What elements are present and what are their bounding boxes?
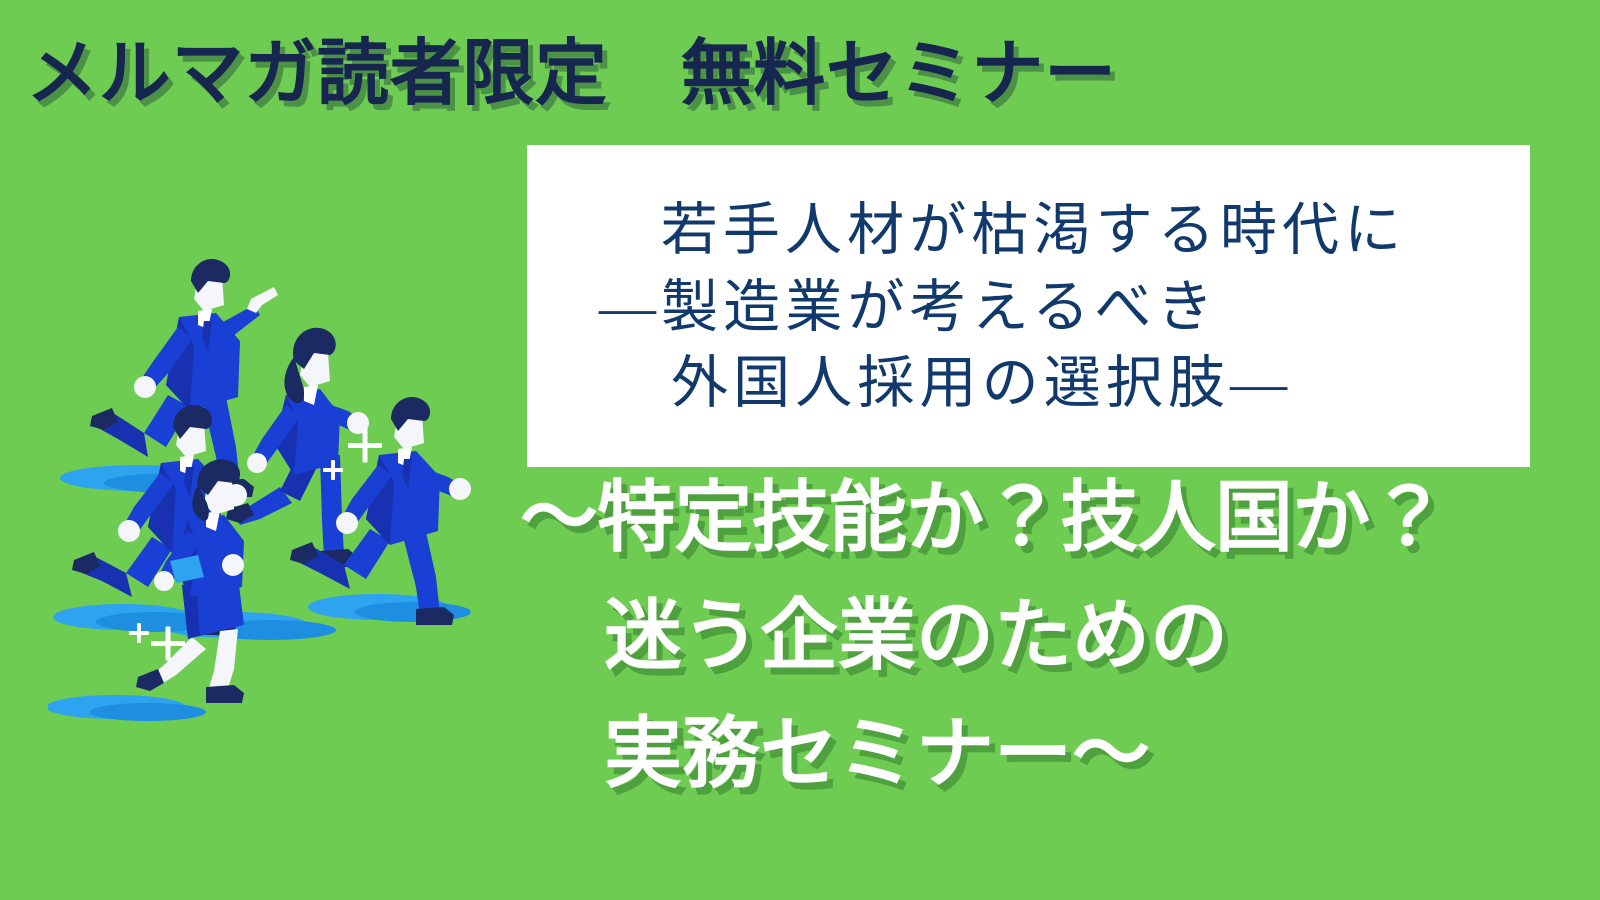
lead-copy: ～特定技能か？技人国か？ 迷う企業のための 実務セミナー～ bbox=[520, 478, 1580, 792]
subtitle-panel: 若手人材が枯渇する時代に ―製造業が考えるべき 外国人採用の選択肢― bbox=[527, 145, 1530, 467]
lead-copy-line-3: 実務セミナー～ bbox=[604, 714, 1580, 792]
sparkle-large-upper bbox=[348, 429, 382, 463]
hand-back bbox=[154, 571, 174, 591]
hand-pointing bbox=[247, 287, 278, 313]
puddle-4b bbox=[355, 602, 471, 622]
hand-front bbox=[449, 478, 471, 500]
puddle-5b bbox=[90, 703, 206, 721]
seminar-banner: メルマガ読者限定 無料セミナー bbox=[0, 0, 1600, 900]
subtitle-line-1: 若手人材が枯渇する時代に bbox=[561, 193, 1496, 269]
hand-back bbox=[118, 520, 140, 542]
hand-front bbox=[222, 554, 244, 576]
page-title: メルマガ読者限定 無料セミナー bbox=[26, 20, 1126, 130]
subtitle-line-3: 外国人採用の選択肢― bbox=[561, 346, 1496, 422]
hand-back bbox=[336, 512, 358, 534]
hand-back bbox=[247, 453, 267, 473]
subtitle-line-2: ―製造業が考えるべき bbox=[561, 270, 1496, 346]
lead-copy-line-2: 迷う企業のための bbox=[604, 596, 1580, 674]
running-businesspeople-illustration bbox=[48, 225, 488, 745]
hand-back bbox=[134, 376, 156, 398]
lead-copy-line-1: ～特定技能か？技人国か？ bbox=[520, 478, 1580, 556]
